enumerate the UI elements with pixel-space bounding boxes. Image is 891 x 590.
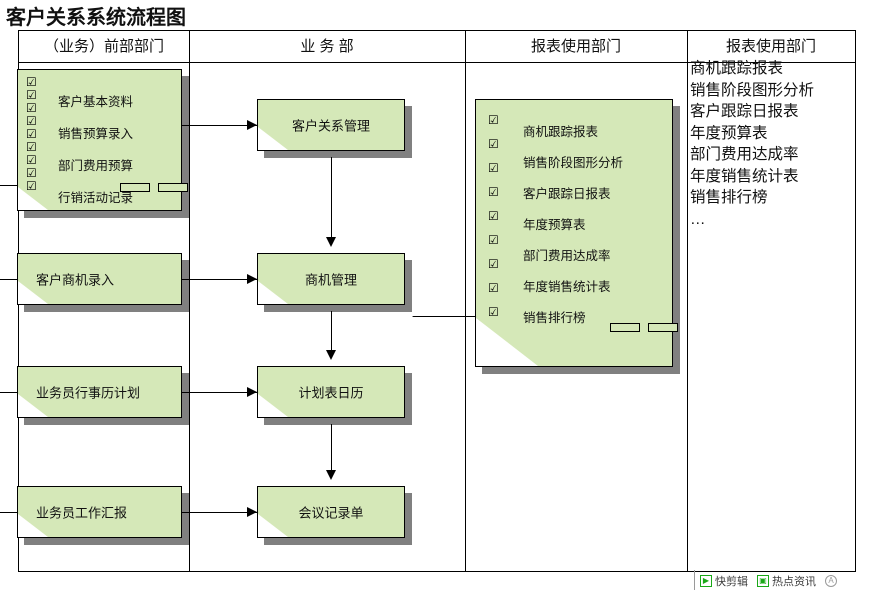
connector-entry-to-opportunity	[182, 279, 248, 280]
column-header-front: （业务）前部部门	[19, 35, 189, 59]
business-box-schedule-calendar[interactable]: 计划表日历	[257, 366, 405, 418]
shape-body: ☑ ☑ ☑ ☑ ☑ ☑ ☑ ☑ ☑ 客户基本资料 销售预算录入 部门费用预算 行…	[17, 69, 182, 211]
list-item: 部门费用预算	[58, 155, 133, 174]
connector-front-doc-to-crm	[182, 125, 248, 126]
checkbox-icon: ☑	[488, 138, 499, 151]
shape-body: 商机管理	[257, 253, 405, 305]
business-box-meeting-record[interactable]: 会议记录单	[257, 486, 405, 538]
column-header-report-use-1: 报表使用部门	[465, 35, 687, 59]
tray-item-label: 快剪辑	[715, 573, 748, 589]
bottom-tray: ▶ 快剪辑 ▣ 热点资讯 A	[700, 572, 837, 590]
arrow-head-icon	[247, 274, 257, 284]
connector-report-to-meeting	[182, 512, 248, 513]
column-divider-2	[465, 31, 466, 571]
document-button[interactable]	[648, 323, 678, 332]
list-item: 销售阶段图形分析	[523, 152, 623, 171]
business-box-crm[interactable]: 客户关系管理	[257, 99, 405, 151]
checkbox-column: ☑ ☑ ☑ ☑ ☑ ☑ ☑ ☑ ☑	[488, 114, 499, 319]
checkbox-icon: ☑	[488, 162, 499, 175]
checkbox-column: ☑ ☑ ☑ ☑ ☑ ☑ ☑ ☑ ☑	[26, 76, 37, 193]
document-button-group[interactable]	[610, 323, 678, 332]
list-item: 商机跟踪报表	[523, 121, 623, 140]
document-button-group[interactable]	[120, 183, 188, 192]
document-button[interactable]	[120, 183, 150, 192]
arrow-head-icon	[247, 387, 257, 397]
checkbox-icon: ☑	[488, 210, 499, 223]
report-list-item: 商机跟踪报表	[690, 58, 814, 80]
checkbox-icon: ☑	[488, 258, 499, 271]
list-item: 年度销售统计表	[523, 276, 623, 295]
report-document-item-list: 商机跟踪报表 销售阶段图形分析 客户跟踪日报表 年度预算表 部门费用达成率 年度…	[523, 121, 623, 326]
tray-divider	[694, 570, 695, 590]
arrow-head-icon	[326, 237, 336, 247]
circle-icon: A	[825, 575, 837, 587]
front-box-salesman-work-report[interactable]: 业务员工作汇报	[17, 486, 182, 538]
tray-item-circle[interactable]: A	[825, 575, 837, 587]
tray-item-hot-news[interactable]: ▣ 热点资讯	[757, 573, 816, 589]
column-divider-3	[687, 31, 688, 571]
news-icon: ▣	[757, 575, 769, 587]
document-button[interactable]	[610, 323, 640, 332]
connector-opportunity-to-calendar	[331, 311, 332, 352]
report-list-item: 销售排行榜	[690, 187, 814, 209]
shape-body: 客户关系管理	[257, 99, 405, 151]
checkbox-icon: ☑	[488, 114, 499, 127]
report-list-item: 部门费用达成率	[690, 144, 814, 166]
arrow-head-icon	[326, 350, 336, 360]
page-title: 客户关系系统流程图	[6, 1, 186, 30]
shape-body: 业务员工作汇报	[17, 486, 182, 538]
business-box-opportunity-management[interactable]: 商机管理	[257, 253, 405, 305]
list-item: 部门费用达成率	[523, 245, 623, 264]
report-document[interactable]: ☑ ☑ ☑ ☑ ☑ ☑ ☑ ☑ ☑ 商机跟踪报表 销售阶段图形分析 客户跟踪日报…	[475, 99, 673, 367]
arrow-head-icon	[247, 507, 257, 517]
checkbox-icon: ☑	[488, 186, 499, 199]
shape-body: 会议记录单	[257, 486, 405, 538]
list-item: 客户基本资料	[58, 91, 133, 110]
shape-body: 客户商机录入	[17, 253, 182, 305]
checkbox-icon: ☑	[488, 282, 499, 295]
list-item: 销售预算录入	[58, 123, 133, 142]
connector-calendar-to-meeting	[331, 424, 332, 472]
document-button[interactable]	[158, 183, 188, 192]
front-box-salesman-calendar-plan[interactable]: 业务员行事历计划	[17, 366, 182, 418]
front-box-customer-opportunity-entry[interactable]: 客户商机录入	[17, 253, 182, 305]
shape-body: ☑ ☑ ☑ ☑ ☑ ☑ ☑ ☑ ☑ 商机跟踪报表 销售阶段图形分析 客户跟踪日报…	[475, 99, 673, 367]
report-list-item: 客户跟踪日报表	[690, 101, 814, 123]
arrow-head-icon	[326, 470, 336, 480]
column-header-business: 业 务 部	[189, 35, 465, 59]
report-list-item: 年度预算表	[690, 123, 814, 145]
list-item: 客户跟踪日报表	[523, 183, 623, 202]
tray-item-quick-edit[interactable]: ▶ 快剪辑	[700, 573, 748, 589]
report-list-item: 销售阶段图形分析	[690, 80, 814, 102]
report-list-item: …	[690, 209, 814, 231]
connector-plan-to-calendar	[182, 392, 248, 393]
tray-item-label: 热点资讯	[772, 573, 816, 589]
play-icon: ▶	[700, 575, 712, 587]
list-item: 销售排行榜	[523, 307, 623, 326]
column-header-report-use-2: 报表使用部门	[687, 35, 855, 59]
list-item: 年度预算表	[523, 214, 623, 233]
shape-body: 计划表日历	[257, 366, 405, 418]
shape-body: 业务员行事历计划	[17, 366, 182, 418]
front-department-document[interactable]: ☑ ☑ ☑ ☑ ☑ ☑ ☑ ☑ ☑ 客户基本资料 销售预算录入 部门费用预算 行…	[17, 69, 182, 211]
column-divider-1	[189, 31, 190, 571]
checkbox-icon: ☑	[488, 234, 499, 247]
report-list-column: 商机跟踪报表 销售阶段图形分析 客户跟踪日报表 年度预算表 部门费用达成率 年度…	[690, 58, 814, 230]
report-list-item: 年度销售统计表	[690, 166, 814, 188]
arrow-head-icon	[247, 120, 257, 130]
connector-crm-to-opportunity	[331, 157, 332, 239]
